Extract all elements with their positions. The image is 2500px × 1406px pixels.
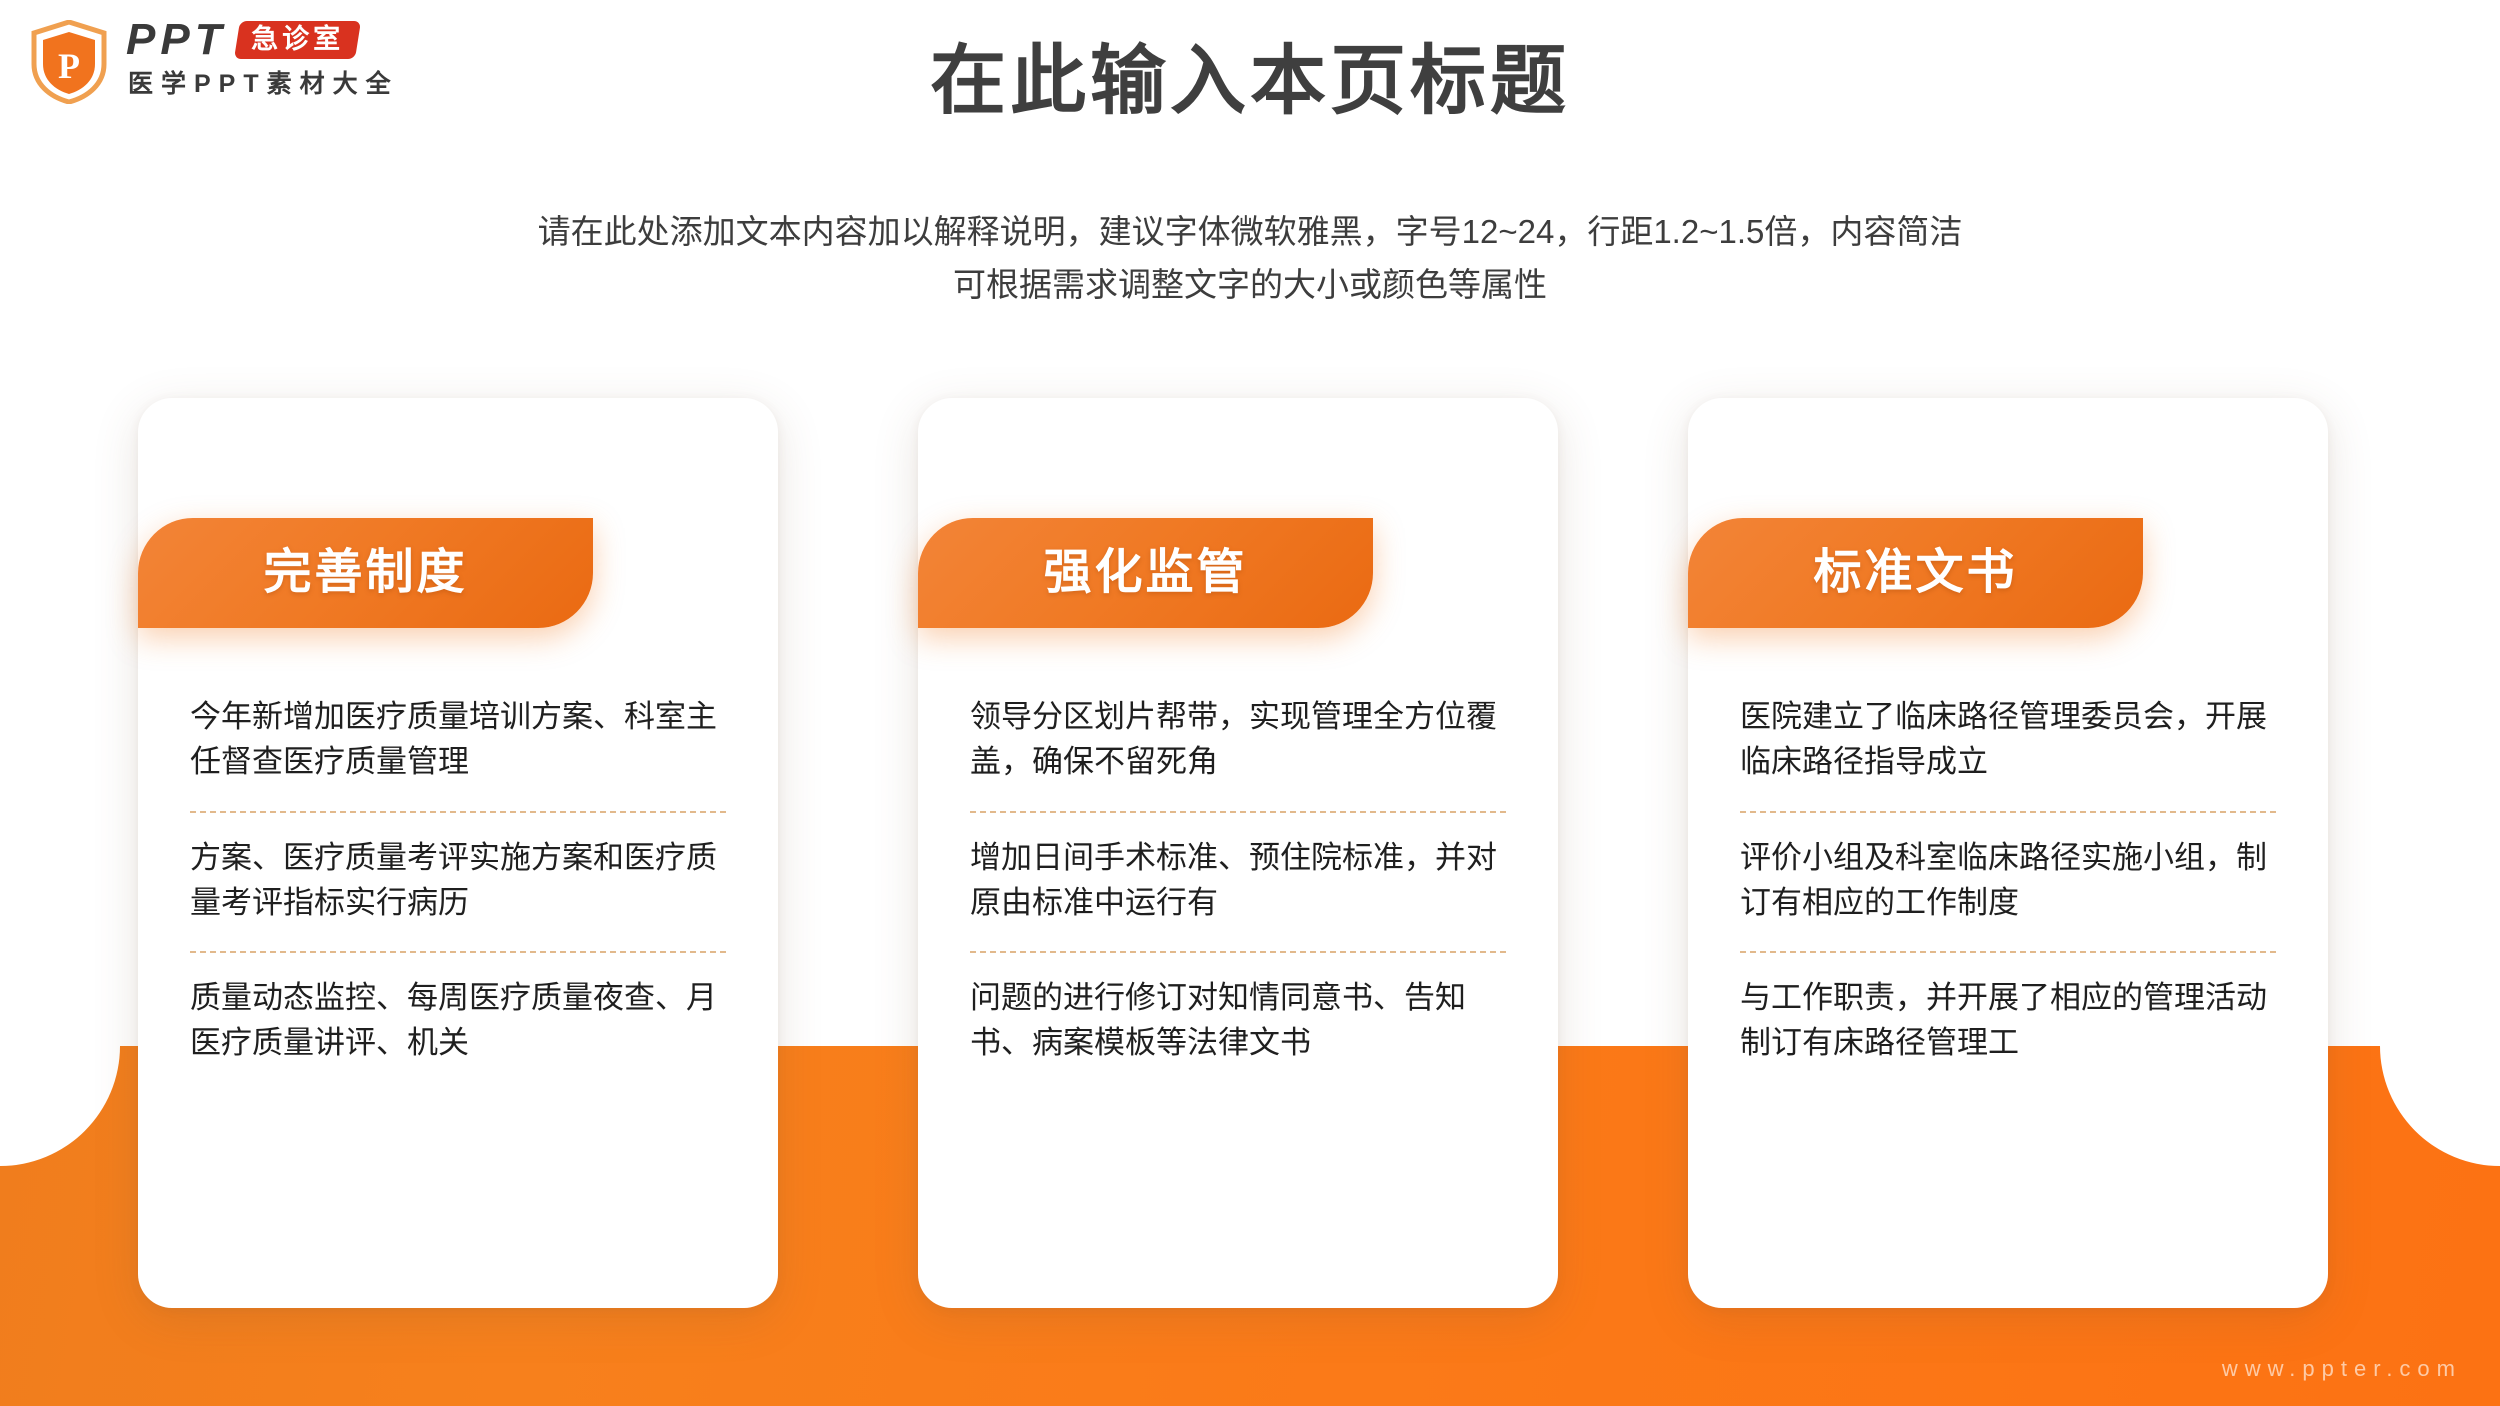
list-item: 今年新增加医疗质量培训方案、科室主任督查医疗质量管理 <box>186 672 730 811</box>
card-2-badge-label: 强化监管 <box>1043 549 1247 597</box>
list-item: 领导分区划片帮带，实现管理全方位覆盖，确保不留死角 <box>966 672 1510 811</box>
card-3-items: 医院建立了临床路径管理委员会，开展临床路径指导成立 评价小组及科室临床路径实施小… <box>1688 672 2328 1092</box>
card-1-badge[interactable]: 完善制度 <box>138 518 593 628</box>
list-item: 方案、医疗质量考评实施方案和医疗质量考评指标实行病历 <box>186 813 730 952</box>
page-subtitle-line-1: 请在此处添加文本内容加以解释说明，建议字体微软雅黑，字号12~24，行距1.2~… <box>0 205 2500 258</box>
card-2-items: 领导分区划片帮带，实现管理全方位覆盖，确保不留死角 增加日间手术标准、预住院标准… <box>918 672 1558 1092</box>
list-item: 质量动态监控、每周医疗质量夜查、月医疗质量讲评、机关 <box>186 953 730 1092</box>
card-3[interactable]: 标准文书 医院建立了临床路径管理委员会，开展临床路径指导成立 评价小组及科室临床… <box>1688 398 2328 1308</box>
slide-canvas: www.ppter.com P PPT 急诊室 医学PPT素材大全 在此输入本页… <box>0 0 2500 1406</box>
card-3-badge-label: 标准文书 <box>1813 549 2017 597</box>
card-1-items: 今年新增加医疗质量培训方案、科室主任督查医疗质量管理 方案、医疗质量考评实施方案… <box>138 672 778 1092</box>
card-1-badge-label: 完善制度 <box>263 549 467 597</box>
page-subtitle-line-2: 可根据需求调整文字的大小或颜色等属性 <box>0 258 2500 311</box>
list-item: 医院建立了临床路径管理委员会，开展临床路径指导成立 <box>1736 672 2280 811</box>
card-group: 完善制度 今年新增加医疗质量培训方案、科室主任督查医疗质量管理 方案、医疗质量考… <box>0 398 2500 1328</box>
list-item: 问题的进行修订对知情同意书、告知书、病案模板等法律文书 <box>966 953 1510 1092</box>
list-item: 评价小组及科室临床路径实施小组，制订有相应的工作制度 <box>1736 813 2280 952</box>
page-subtitle: 请在此处添加文本内容加以解释说明，建议字体微软雅黑，字号12~24，行距1.2~… <box>0 205 2500 312</box>
watermark-url: www.ppter.com <box>2222 1358 2462 1380</box>
list-item: 与工作职责，并开展了相应的管理活动制订有床路径管理工 <box>1736 953 2280 1092</box>
card-1[interactable]: 完善制度 今年新增加医疗质量培训方案、科室主任督查医疗质量管理 方案、医疗质量考… <box>138 398 778 1308</box>
card-3-badge[interactable]: 标准文书 <box>1688 518 2143 628</box>
page-title: 在此输入本页标题 <box>0 44 2500 120</box>
list-item: 增加日间手术标准、预住院标准，并对原由标准中运行有 <box>966 813 1510 952</box>
card-2[interactable]: 强化监管 领导分区划片帮带，实现管理全方位覆盖，确保不留死角 增加日间手术标准、… <box>918 398 1558 1308</box>
card-2-badge[interactable]: 强化监管 <box>918 518 1373 628</box>
